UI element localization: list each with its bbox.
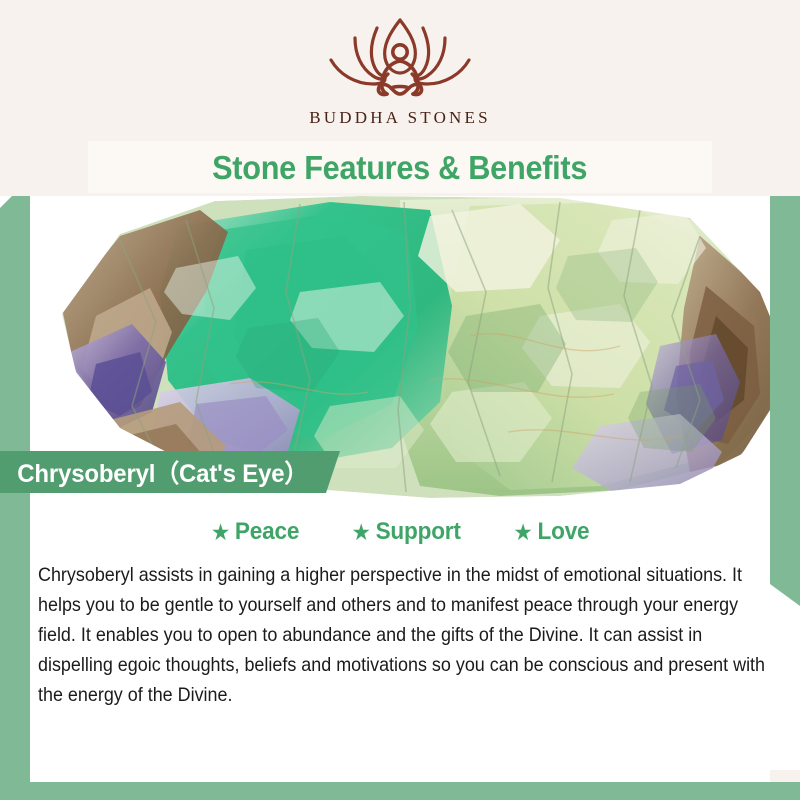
- keyword-item-love: ★ Love: [513, 518, 589, 546]
- star-icon: ★: [211, 521, 230, 544]
- star-icon: ★: [513, 521, 532, 544]
- keyword-list: ★ Peace ★ Support ★ Love: [30, 506, 770, 546]
- keyword-item-support: ★ Support: [352, 518, 461, 546]
- lotus-meditation-icon: [325, 16, 475, 102]
- stone-name: Chrysoberyl（Cat's Eye）: [0, 454, 308, 490]
- page-title-band: Stone Features & Benefits: [0, 143, 800, 193]
- stone-name-ribbon: Chrysoberyl（Cat's Eye）: [0, 451, 340, 493]
- stone-info-card: BUDDHA STONES Stone Features & Benefits …: [0, 0, 800, 800]
- stone-description: Chrysoberyl assists in gaining a higher …: [38, 560, 779, 710]
- brand-name: BUDDHA STONES: [309, 108, 491, 128]
- frame-accent-right: [770, 166, 800, 606]
- header: BUDDHA STONES Stone Features & Benefits: [0, 0, 800, 196]
- frame-accent-bottom: [0, 782, 800, 800]
- keyword-label: Love: [537, 518, 589, 546]
- page-title: Stone Features & Benefits: [212, 149, 587, 187]
- keyword-label: Peace: [235, 518, 299, 546]
- keyword-label: Support: [376, 518, 461, 546]
- star-icon: ★: [352, 521, 371, 544]
- keyword-item-peace: ★ Peace: [211, 518, 299, 546]
- content-panel: ★ Peace ★ Support ★ Love Chrysoberyl ass…: [30, 506, 770, 782]
- brand-logo: BUDDHA STONES: [0, 16, 800, 128]
